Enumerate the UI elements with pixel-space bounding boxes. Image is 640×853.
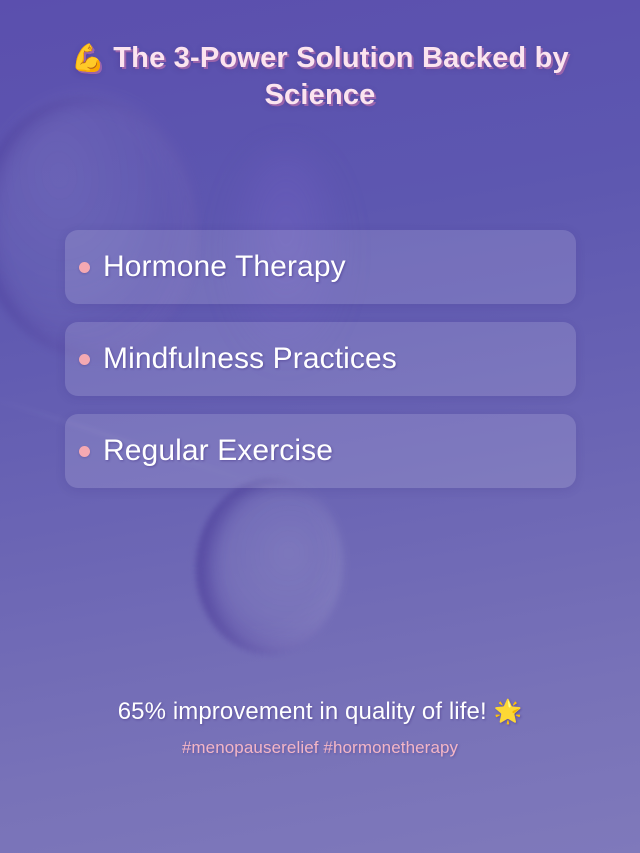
page-title: 💪 The 3-Power Solution Backed by Science: [40, 40, 600, 114]
footer: 65% improvement in quality of life! 🌟 #m…: [40, 698, 600, 758]
balloon-rim-center: [190, 473, 350, 659]
flexed-biceps-icon: 💪: [71, 43, 105, 73]
bullet-dot-icon: [79, 354, 90, 365]
stat-text: 65% improvement in quality of life!: [118, 698, 487, 725]
bullet-card-label: Hormone Therapy: [103, 250, 346, 284]
page-title-text: The 3-Power Solution Backed by Science: [113, 42, 569, 111]
bullet-card-label: Regular Exercise: [103, 434, 333, 468]
bullet-card-hormone-therapy[interactable]: Hormone Therapy: [65, 230, 576, 304]
bullet-card-label: Mindfulness Practices: [103, 342, 397, 376]
balloon-decoration-center: [190, 473, 350, 659]
bullet-dot-icon: [79, 262, 90, 273]
social-slide: 💪 The 3-Power Solution Backed by Science…: [0, 0, 640, 853]
bullet-card-list: Hormone Therapy Mindfulness Practices Re…: [65, 230, 576, 488]
bullet-card-regular-exercise[interactable]: Regular Exercise: [65, 414, 576, 488]
bullet-card-mindfulness-practices[interactable]: Mindfulness Practices: [65, 322, 576, 396]
hashtags: #menopauserelief #hormonetherapy: [40, 738, 600, 758]
bullet-dot-icon: [79, 446, 90, 457]
stat-line: 65% improvement in quality of life! 🌟: [40, 698, 600, 726]
glowing-star-icon: 🌟: [494, 698, 523, 724]
